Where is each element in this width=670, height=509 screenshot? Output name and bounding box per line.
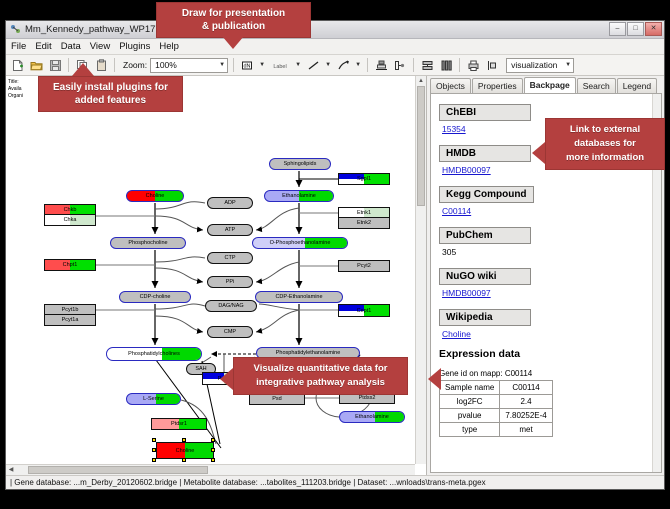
metabolite-label: Phosphatidylcholines [128, 349, 180, 360]
selection-handle[interactable] [211, 448, 215, 452]
menu-bar: File Edit Data View Plugins Help [6, 39, 664, 55]
toolbar-separator [459, 58, 460, 72]
metabolite-node-phosphocholine[interactable]: Phosphocholine [110, 237, 186, 249]
expression-value: 2.4 [500, 395, 552, 409]
title-bar: Mm_Kennedy_pathway_WP1771_45176.gpml – □… [6, 21, 664, 39]
gene-label: Cept1 [357, 306, 372, 316]
expression-key: type [440, 423, 500, 437]
window-buttons: – □ ✕ [609, 22, 662, 36]
metabolite-label: CDP-choline [140, 292, 171, 303]
tab-objects[interactable]: Objects [430, 78, 471, 93]
datanode-icon[interactable]: dN [239, 57, 255, 73]
close-button[interactable]: ✕ [645, 22, 662, 36]
visualization-combo[interactable]: visualization ▼ [506, 58, 574, 73]
zoom-value: 100% [155, 60, 177, 70]
print-icon[interactable] [465, 57, 481, 73]
distribute-icon[interactable] [438, 57, 454, 73]
metabolite-label: CDP-Ethanolamine [275, 292, 322, 303]
db-link-nugo-wiki[interactable]: HMDB00097 [442, 288, 652, 298]
db-header-wikipedia: Wikipedia [439, 309, 531, 326]
tab-backpage[interactable]: Backpage [524, 77, 576, 93]
metabolite-node-ethanolamine-bottom[interactable]: Ethanolamine [339, 411, 405, 423]
expression-key: pvalue [440, 409, 500, 423]
db-header-nugo-wiki: NuGO wiki [439, 268, 531, 285]
tab-properties[interactable]: Properties [472, 78, 523, 93]
datanode-chevron-down-icon[interactable]: ▼ [258, 58, 266, 72]
metabolite-node-sphingolipids[interactable]: Sphingolipids [269, 158, 331, 170]
callout-draw-arrow-icon [222, 36, 244, 49]
callout-line: & publication [164, 20, 303, 33]
line-icon[interactable] [305, 57, 321, 73]
metabolite-label: L-Serine [143, 394, 164, 405]
gene-node-chpt1[interactable]: Chpt1 [44, 259, 96, 271]
cofactor-label: DAG/NAG [218, 301, 243, 312]
metabolite-label: Choline [176, 448, 195, 454]
toolbar-separator [114, 58, 115, 72]
chevron-down-icon: ▼ [565, 62, 571, 68]
interaction-chevron-down-icon[interactable]: ▼ [354, 58, 362, 72]
metabolite-node-o-phosphoethanolamine[interactable]: O-Phosphoethanolamine [252, 237, 348, 249]
callout-expression-arrow-icon [428, 368, 441, 390]
canvas-vertical-scrollbar[interactable]: ▲ [415, 76, 426, 464]
cofactor-node[interactable]: PPi [207, 276, 253, 288]
callout-link: Link to external databases for more info… [545, 118, 665, 170]
callout-line: Visualize quantitative data for [241, 362, 400, 376]
cofactor-node[interactable]: DAG/NAG [205, 300, 257, 312]
pathway-canvas[interactable]: Title: Availa Organi [6, 76, 427, 475]
scrollbar-thumb[interactable] [417, 86, 425, 206]
db-link-wikipedia[interactable]: Choline [442, 329, 652, 339]
toolbar-separator [367, 58, 368, 72]
gene-label: Chka [64, 215, 77, 225]
new-file-icon[interactable] [9, 57, 25, 73]
label-icon[interactable]: Label [269, 57, 291, 73]
gene-node-pcyt1a[interactable]: Pcyt1a [44, 315, 96, 326]
menu-item-data[interactable]: Data [61, 41, 81, 52]
db-link-kegg-compound[interactable]: C00114 [442, 206, 652, 216]
table-row: log2FC 2.4 [440, 395, 553, 409]
gene-label: Pcyt1a [62, 315, 79, 325]
db-header-kegg-compound: Kegg Compound [439, 186, 534, 203]
pathvisio-icon [10, 24, 21, 35]
chevron-down-icon: ▼ [219, 62, 225, 68]
gene-node-sgpl1[interactable]: Sgpl1 [338, 173, 390, 185]
selection-handle[interactable] [211, 438, 215, 442]
cofactor-label: CMP [224, 327, 236, 338]
side-panel-tabs: Objects Properties Backpage Search Legen… [427, 76, 664, 93]
expression-value: met [500, 423, 552, 437]
gene-label: Sgpl1 [357, 174, 371, 184]
cofactor-label: PPi [226, 277, 235, 288]
callout-plugins-arrow-icon [72, 63, 94, 76]
tab-legend[interactable]: Legend [617, 78, 657, 93]
callout-draw: Draw for presentation & publication [156, 2, 311, 38]
metabolite-label: Ethanolamine [355, 412, 389, 423]
callout-line: more information [553, 151, 657, 165]
toolbar-separator [233, 58, 234, 72]
paste-icon[interactable] [93, 57, 109, 73]
gene-node-chkb[interactable]: Chkb [44, 204, 96, 215]
table-row: pvalue 7.80252E-4 [440, 409, 553, 423]
toolbar: Zoom: 100% ▼ dN ▼ Label ▼ ▼ ▼ [6, 55, 664, 76]
gene-label: Psd [272, 394, 281, 404]
toolbar-separator [68, 58, 69, 72]
expression-value: C00114 [500, 381, 552, 395]
db-header-hmdb: HMDB [439, 145, 531, 162]
gene-node-pcyt2[interactable]: Pcyt2 [338, 260, 390, 272]
db-header-pubchem: PubChem [439, 227, 531, 244]
expression-value: 7.80252E-4 [500, 409, 552, 423]
tab-search[interactable]: Search [577, 78, 616, 93]
metabolite-node-choline-selected[interactable]: Choline [156, 442, 214, 459]
metabolite-node-l-serine-left[interactable]: L-Serine [126, 393, 181, 405]
scroll-up-icon[interactable]: ▲ [416, 76, 426, 86]
gene-node-ptdsr1[interactable]: Ptdsr1 [151, 418, 207, 430]
metabolite-label: Choline [146, 191, 165, 202]
metabolite-node-phosphatidylcholines[interactable]: Phosphatidylcholines [106, 347, 202, 361]
selection-handle[interactable] [182, 438, 186, 442]
metabolite-node-cdp-ethanolamine[interactable]: CDP-Ethanolamine [255, 291, 343, 303]
gene-label: Chpt1 [63, 260, 78, 270]
metabolite-label: O-Phosphoethanolamine [270, 238, 331, 249]
callout-line: integrative pathway analysis [241, 376, 400, 390]
canvas-horizontal-scrollbar[interactable]: ◀ [6, 464, 415, 475]
gene-node-cept1[interactable]: Cept1 [338, 304, 390, 317]
status-text: | Gene database: ...m_Derby_20120602.bri… [10, 478, 486, 487]
selection-handle[interactable] [211, 458, 215, 462]
cofactor-node[interactable]: ADP [207, 197, 253, 209]
gene-node-etnk2[interactable]: Etnk2 [338, 218, 390, 229]
toolbar-separator [413, 58, 414, 72]
gene-label: Chkb [64, 205, 77, 215]
open-folder-icon[interactable] [28, 57, 44, 73]
expression-key: log2FC [440, 395, 500, 409]
expression-key: Sample name [440, 381, 500, 395]
gene-label: Etnk2 [357, 218, 371, 228]
selection-handle[interactable] [182, 458, 186, 462]
minimize-button[interactable]: – [609, 22, 626, 36]
metabolite-label: Ethanolamine [282, 191, 316, 202]
db-header-chebi: ChEBI [439, 104, 531, 121]
callout-line: Link to external [553, 123, 657, 137]
gene-node-chka[interactable]: Chka [44, 215, 96, 226]
callout-line: databases for [553, 137, 657, 151]
callout-plugins: Easily install plugins for added feature… [38, 76, 183, 112]
callout-line: Easily install plugins for [46, 81, 175, 94]
selection-handle[interactable] [152, 448, 156, 452]
scroll-left-icon[interactable]: ◀ [6, 465, 16, 475]
callout-visualize-arrow-icon [220, 368, 233, 390]
svg-text:dN: dN [243, 63, 250, 69]
metabolite-label: Phosphocholine [128, 238, 167, 249]
db-value-pubchem: 305 [442, 247, 652, 257]
zoom-combo[interactable]: 100% ▼ [150, 58, 228, 73]
label-chevron-down-icon[interactable]: ▼ [294, 58, 302, 72]
align-icon[interactable] [373, 57, 389, 73]
callout-visualize: Visualize quantitative data for integrat… [233, 357, 408, 395]
status-bar: | Gene database: ...m_Derby_20120602.bri… [6, 475, 664, 489]
layout-icon[interactable] [484, 57, 500, 73]
metabolite-node-cdp-choline[interactable]: CDP-choline [119, 291, 191, 303]
menu-item-help[interactable]: Help [159, 41, 179, 52]
cofactor-node[interactable]: CTP [207, 252, 253, 264]
gene-label: Pcyt1b [62, 305, 79, 315]
maximize-button[interactable]: □ [627, 22, 644, 36]
cofactor-node[interactable]: ATP [207, 224, 253, 236]
visualization-value: visualization [511, 60, 557, 70]
gene-node-pcyt1b[interactable]: Pcyt1b [44, 304, 96, 315]
callout-line: added features [46, 94, 175, 107]
line-chevron-down-icon[interactable]: ▼ [324, 58, 332, 72]
menu-item-file[interactable]: File [11, 41, 26, 52]
callout-link-arrow-icon [532, 142, 545, 164]
cofactor-node[interactable]: CMP [207, 326, 253, 338]
zoom-label: Zoom: [123, 60, 147, 70]
metabolite-node-choline-top[interactable]: Choline [126, 190, 184, 202]
interaction-icon[interactable] [335, 57, 351, 73]
expression-data-heading: Expression data [439, 348, 652, 360]
scrollbar-thumb[interactable] [28, 466, 208, 474]
selection-handle[interactable] [152, 438, 156, 442]
svg-text:Label: Label [273, 63, 286, 69]
stack-icon[interactable] [419, 57, 435, 73]
cofactor-label: ADP [224, 198, 235, 209]
gene-label: Pcyt2 [357, 261, 371, 271]
metabolite-label: Sphingolipids [284, 159, 317, 170]
table-row: Sample name C00114 [440, 381, 553, 395]
selection-handle[interactable] [152, 458, 156, 462]
gene-id-on-mapp: Gene id on mapp: C00114 [439, 369, 652, 378]
gene-node-etnk1[interactable]: Etnk1 [338, 207, 390, 218]
gene-label: Etnk1 [357, 208, 371, 218]
metabolite-node-ethanolamine-top[interactable]: Ethanolamine [264, 190, 334, 202]
gene-label: Ptdsr1 [171, 419, 187, 429]
save-disk-icon[interactable] [47, 57, 63, 73]
cofactor-label: CTP [225, 253, 236, 264]
group-icon[interactable] [392, 57, 408, 73]
callout-line: Draw for presentation [164, 7, 303, 20]
cofactor-label: ATP [225, 225, 235, 236]
table-row: type met [440, 423, 553, 437]
menu-item-edit[interactable]: Edit [35, 41, 51, 52]
menu-item-view[interactable]: View [90, 41, 110, 52]
menu-item-plugins[interactable]: Plugins [119, 41, 150, 52]
expression-table: Sample name C00114 log2FC 2.4 pvalue 7.8… [439, 380, 553, 437]
